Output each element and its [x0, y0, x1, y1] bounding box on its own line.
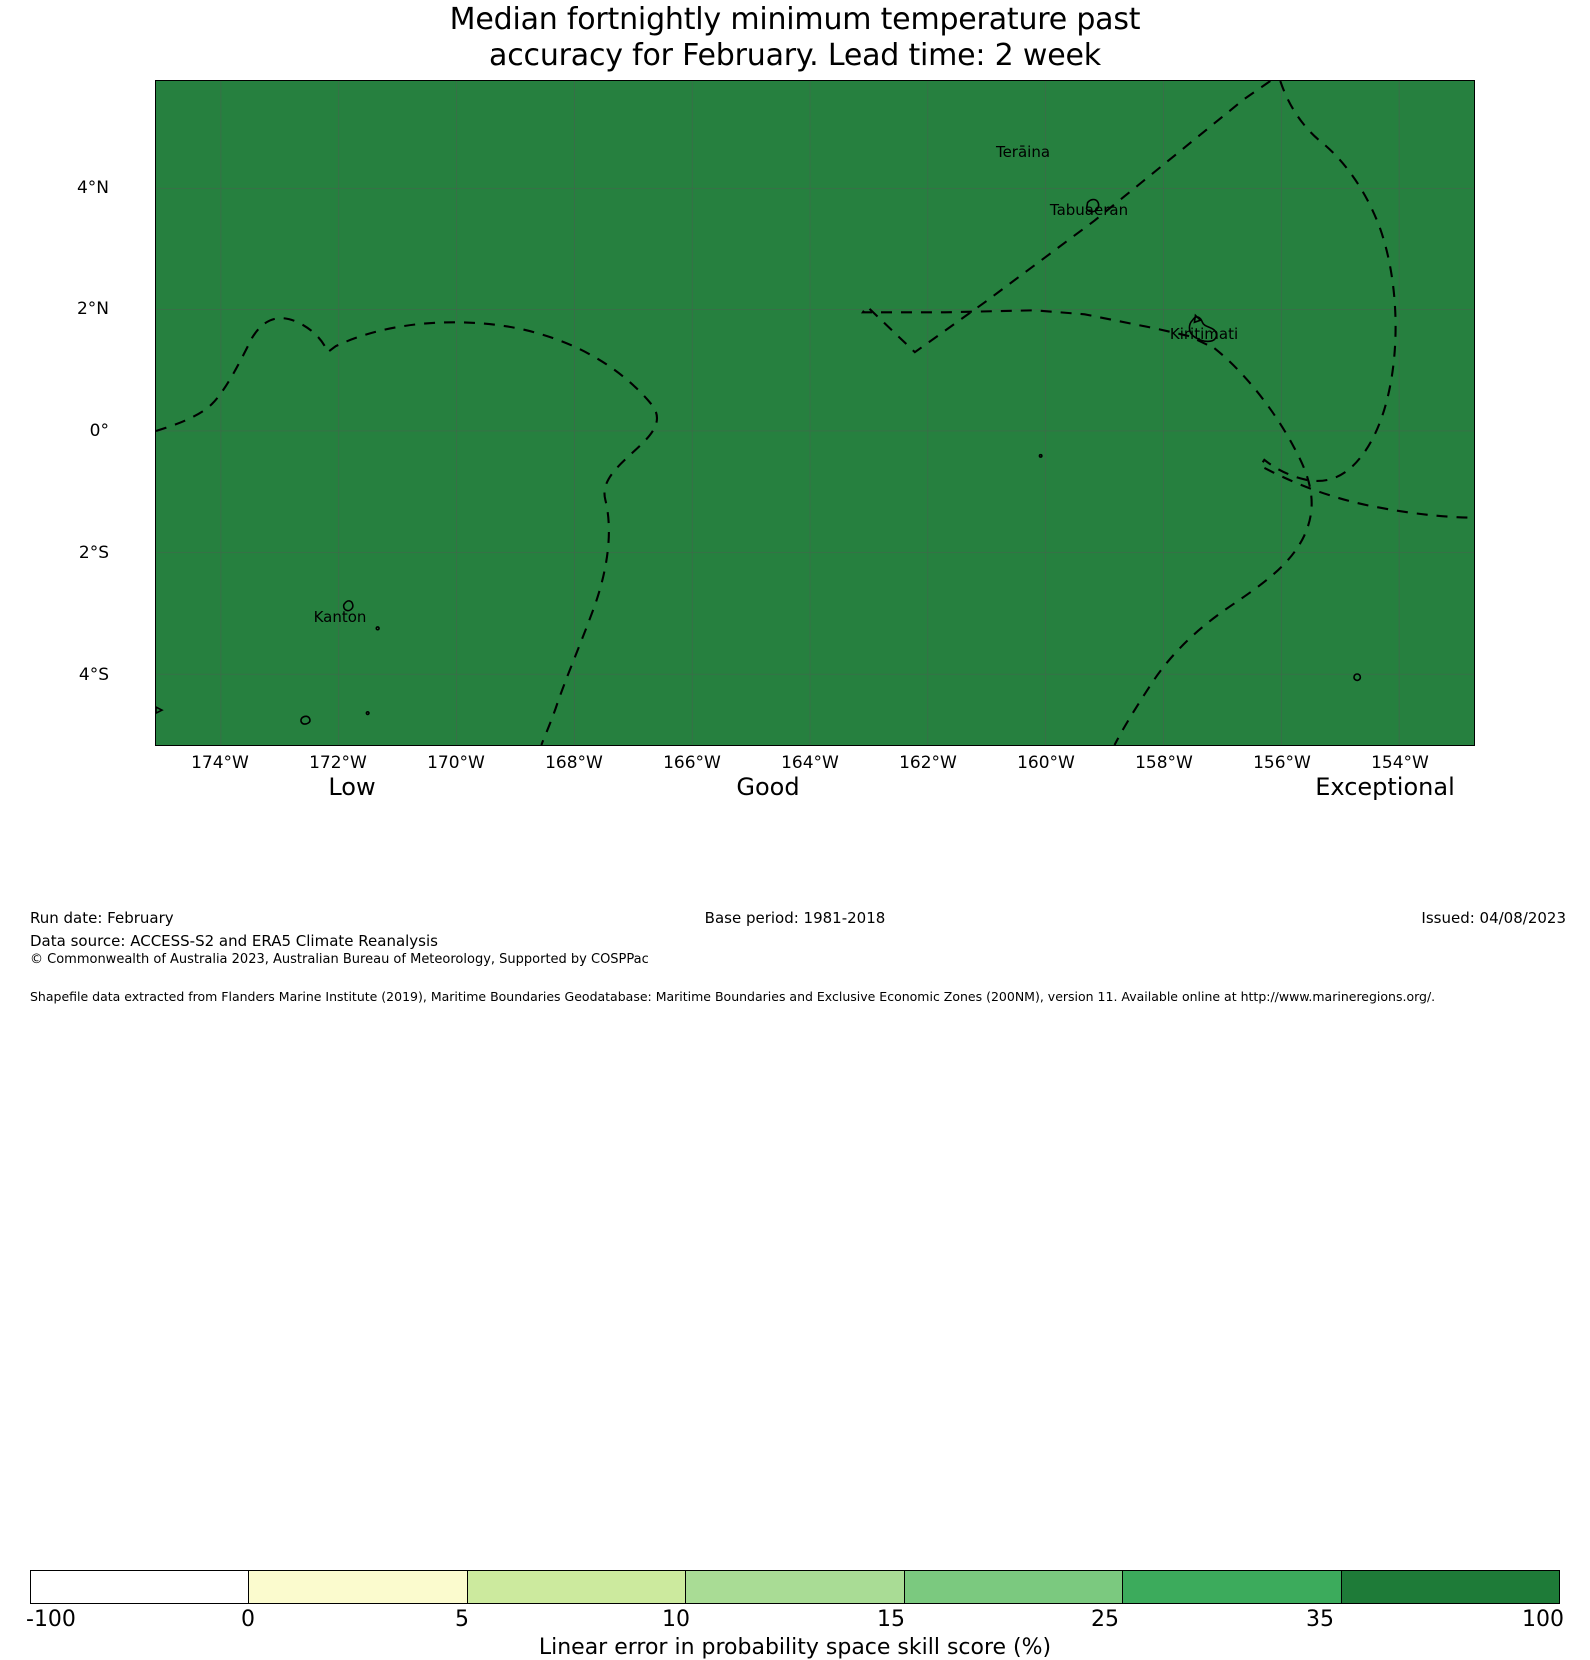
footer-copyright: © Commonwealth of Australia 2023, Austra… [30, 951, 649, 968]
ytick-label: 4°N [0, 180, 109, 197]
colorbar-category-exceptional: Exceptional [1235, 774, 1535, 800]
colorbar-tick: -100 [26, 1608, 186, 1632]
title-line-2: accuracy for February. Lead time: 2 week [0, 38, 1590, 74]
colorbar-segment [905, 1571, 1123, 1603]
gridlines [156, 81, 1474, 745]
colorbar-tick: 0 [168, 1608, 328, 1632]
colorbar[interactable] [30, 1570, 1560, 1604]
colorbar-tick: 25 [1025, 1608, 1185, 1632]
footer-base-period: Base period: 1981-2018 [0, 909, 1590, 928]
colorbar-segment [1342, 1571, 1559, 1603]
colorbar-axis-label: Linear error in probability space skill … [0, 1636, 1590, 1660]
title-line-1: Median fortnightly minimum temperature p… [450, 2, 1141, 37]
island-outlines [156, 200, 1360, 725]
colorbar-category-low: Low [202, 774, 502, 800]
footer-data-source: Data source: ACCESS-S2 and ERA5 Climate … [30, 932, 438, 951]
colorbar-segment [468, 1571, 686, 1603]
ytick-label: 4°S [0, 667, 109, 684]
colorbar-tick: 100 [1404, 1608, 1564, 1632]
ytick-label: 0° [0, 423, 109, 440]
island-label-kiritimati: Kiritimati [1170, 325, 1238, 343]
colorbar-region: Low Good Exceptional -100 0 5 10 15 25 3… [0, 770, 1590, 900]
footer: Run date: February Base period: 1981-201… [0, 905, 1590, 1020]
footer-issued-date: Issued: 04/08/2023 [1421, 909, 1566, 928]
ytick-label: 2°N [0, 301, 109, 318]
colorbar-segment [249, 1571, 467, 1603]
colorbar-tick: 10 [596, 1608, 756, 1632]
island-label-tabuaeran: Tabuaeran [1050, 201, 1128, 219]
footer-shapefile-attribution: Shapefile data extracted from Flanders M… [30, 989, 1435, 1005]
map-graphics [156, 81, 1474, 745]
colorbar-segment [31, 1571, 249, 1603]
island-label-kanton: Kanton [314, 608, 367, 626]
eez-boundary-lines [156, 81, 1474, 745]
colorbar-tick: 15 [811, 1608, 971, 1632]
colorbar-segment [686, 1571, 904, 1603]
ytick-label: 2°S [0, 545, 109, 562]
colorbar-tick: 5 [382, 1608, 542, 1632]
colorbar-tick: 35 [1240, 1608, 1400, 1632]
page-title: Median fortnightly minimum temperature p… [0, 2, 1590, 74]
colorbar-category-good: Good [618, 774, 918, 800]
colorbar-segment [1123, 1571, 1341, 1603]
map-plot-area [155, 80, 1475, 746]
island-label-teraina: Terāina [996, 143, 1050, 161]
